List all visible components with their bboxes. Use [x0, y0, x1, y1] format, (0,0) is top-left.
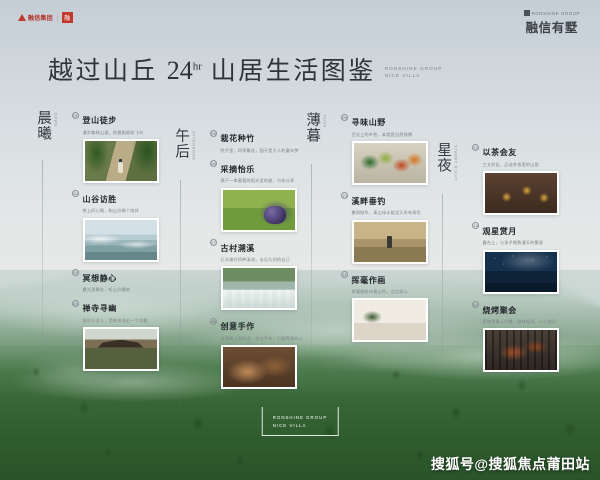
column-afternoon-title: 午后	[172, 128, 190, 159]
item-number-badge: 14	[472, 301, 479, 308]
item-header: 01 登山徒步 漫步森林山道，把晨跑留给飞鸟	[72, 110, 184, 135]
item-description: 挥毫描绘诗意山色，点点家心	[352, 289, 408, 294]
item-thumbnail[interactable]	[83, 327, 159, 371]
item-text: 禅寺寻幽 拾阶与古人，用香茶涤出一个早晨	[83, 298, 148, 323]
triangle-icon	[18, 14, 26, 21]
item-header: 04 禅寺寻幽 拾阶与古人，用香茶涤出一个早晨	[72, 298, 184, 323]
item-number-badge: 08	[210, 318, 217, 325]
item-text: 山谷访胜 带上好心情，和山谷做个陪伴	[83, 189, 139, 214]
column-dawn-rule	[42, 160, 43, 375]
column-night-rule	[442, 194, 443, 390]
list-item[interactable]: 08 创意手作 点亮陶土里的泥，捻出手作，打磨等物的心	[210, 316, 322, 389]
title-part-2: 山居生活图鉴	[211, 58, 376, 85]
item-header: 10 溪畔垂钓 撒网抛竿，青山绿水能浇灭所有烦忧	[341, 191, 453, 216]
item-title: 禅寺寻幽	[83, 304, 117, 313]
item-title: 以茶会友	[483, 148, 517, 157]
brand-logo-right: RONSHINE GROUP 融信有墅	[524, 10, 580, 36]
item-number-badge: 04	[72, 300, 79, 307]
item-description: 舌尖上的乡愁，本就是自然馈赠	[352, 132, 413, 137]
item-thumbnail[interactable]	[83, 218, 159, 262]
thumbnail-image-misty-valley	[85, 220, 157, 260]
item-header: 14 烧烤聚会 庭院里篝火升腾，滋味相识，人心相近	[472, 300, 584, 325]
column-dawn-items: 01 登山徒步 漫步森林山道，把晨跑留给飞鸟 02 山谷访胜	[72, 110, 184, 377]
item-header: 08 创意手作 点亮陶土里的泥，捻出手作，打磨等物的心	[210, 316, 322, 341]
list-item[interactable]: 06 采摘怡乐 摘下一串葡萄的阳光里的甜，与你分享	[210, 159, 322, 232]
item-title: 栽花种竹	[221, 134, 255, 143]
item-number-badge: 02	[72, 190, 79, 197]
item-description: 晨光里静坐，听山谷醒来	[83, 287, 131, 292]
title-subtitle: RONSHINE GROUP NICE VILLA	[385, 65, 443, 80]
item-description: 带上好心情，和山谷做个陪伴	[83, 208, 139, 213]
item-number-badge: 07	[210, 239, 217, 246]
sohu-watermark: 搜狐号@搜狐焦点莆田站	[431, 454, 590, 474]
item-thumbnail[interactable]	[483, 171, 559, 215]
brand-logo-left: 融信集团 融	[18, 12, 73, 23]
thumbnail-image-temple	[85, 329, 157, 369]
brand-logo-left-text: 融信集团	[28, 13, 53, 22]
brand-logo-right-cn: 融信有墅	[524, 17, 580, 36]
thumbnail-image-starry-sky	[485, 252, 557, 292]
column-dusk-en: DUSK	[323, 115, 327, 128]
list-item[interactable]: 11 挥毫作画 挥毫描绘诗意山色，点点家心	[341, 270, 453, 343]
item-number-badge: 01	[72, 112, 79, 119]
item-description: 撒网抛竿，青山绿水能浇灭所有烦忧	[352, 210, 422, 215]
item-header: 02 山谷访胜 带上好心情，和山谷做个陪伴	[72, 189, 184, 214]
column-night-items: 12 以茶会友 三五好友，品谈茶香里的山居 13 观星赏月	[472, 142, 584, 378]
item-number-badge: 05	[210, 130, 217, 137]
logo-divider	[57, 13, 58, 22]
item-number-badge: 09	[341, 114, 348, 121]
thumbnail-image-hiking-trail	[85, 141, 157, 181]
list-item[interactable]: 13 观星赏月 露台上，与孩子细数漫天的繁星	[472, 221, 584, 294]
item-header: 13 观星赏月 露台上，与孩子细数漫天的繁星	[472, 221, 584, 246]
item-header: 03 冥想静心 晨光里静坐，听山谷醒来	[72, 268, 184, 293]
thumbnail-image-vegetables	[354, 143, 426, 183]
item-title: 挥毫作画	[352, 276, 386, 285]
list-item[interactable]: 04 禅寺寻幽 拾阶与古人，用香茶涤出一个早晨	[72, 298, 184, 371]
column-afternoon-items: 05 栽花种竹 院子里，四季繁花，园子是大人的童年梦 06 采摘怡乐 摘下一串葡…	[210, 128, 322, 395]
title-part-1: 越过山丘	[48, 58, 158, 85]
thumbnail-image-painting	[354, 300, 426, 340]
list-item[interactable]: 10 溪畔垂钓 撒网抛竿，青山绿水能浇灭所有烦忧	[341, 191, 453, 264]
item-header: 06 采摘怡乐 摘下一串葡萄的阳光里的甜，与你分享	[210, 159, 322, 184]
item-description: 拾阶与古人，用香茶涤出一个早晨	[83, 318, 148, 323]
footer-logo-line1: RONSHINE GROUP	[273, 414, 328, 421]
item-title: 冥想静心	[83, 274, 117, 283]
item-number-badge: 03	[72, 269, 79, 276]
item-text: 观星赏月 露台上，与孩子细数漫天的繁星	[483, 221, 544, 246]
column-dawn-heading: 晨曦 DAWN	[34, 110, 58, 141]
thumbnail-image-handicraft	[223, 347, 295, 387]
item-thumbnail[interactable]	[483, 250, 559, 294]
thumbnail-image-tea	[485, 173, 557, 213]
item-title: 观星赏月	[483, 227, 517, 236]
column-dusk-title: 薄暮	[303, 112, 321, 143]
item-title: 寻味山野	[352, 118, 386, 127]
column-dawn-title: 晨曦	[34, 110, 52, 141]
thumbnail-image-fishing	[354, 222, 426, 262]
item-title: 登山徒步	[83, 116, 117, 125]
title-unit: hr	[193, 61, 202, 73]
title-number: 24	[167, 56, 193, 85]
item-title: 创意手作	[221, 322, 255, 331]
list-item[interactable]: 12 以茶会友 三五好友，品谈茶香里的山居	[472, 142, 584, 215]
item-title: 采摘怡乐	[221, 165, 255, 174]
item-text: 创意手作 点亮陶土里的泥，捻出手作，打磨等物的心	[221, 316, 304, 341]
column-night-en: STARRY NIGHT	[454, 145, 458, 181]
item-header: 11 挥毫作画 挥毫描绘诗意山色，点点家心	[341, 270, 453, 295]
item-description: 露台上，与孩子细数漫天的繁星	[483, 240, 544, 245]
item-description: 石头滩村桥畔溪流，去见久别的自己	[221, 257, 291, 262]
item-description: 庭院里篝火升腾，滋味相识，人心相近	[483, 319, 557, 324]
item-thumbnail[interactable]	[483, 328, 559, 372]
item-text: 采摘怡乐 摘下一串葡萄的阳光里的甜，与你分享	[221, 159, 295, 184]
thumbnail-image-stream	[223, 268, 295, 308]
brand-badge: 融	[62, 12, 73, 23]
item-text: 以茶会友 三五好友，品谈茶香里的山居	[483, 142, 539, 167]
column-dawn-en: DAWN	[54, 113, 58, 127]
item-number-badge: 11	[341, 271, 348, 278]
item-thumbnail[interactable]	[352, 298, 428, 342]
thumbnail-image-barbecue	[485, 330, 557, 370]
item-text: 溪畔垂钓 撒网抛竿，青山绿水能浇灭所有烦忧	[352, 191, 422, 216]
item-number-badge: 10	[341, 192, 348, 199]
column-afternoon-heading: 午后 AFTERNOON	[172, 128, 196, 161]
page-title: 越过山丘 24hr 山居生活图鉴 RONSHINE GROUP NICE VIL…	[48, 58, 442, 84]
item-header: 09 寻味山野 舌尖上的乡愁，本就是自然馈赠	[341, 112, 453, 137]
ronshine-triangle-icon: 融信集团	[18, 13, 53, 22]
column-dusk-heading: 薄暮 DUSK	[303, 112, 327, 143]
item-text: 古村溯溪 石头滩村桥畔溪流，去见久别的自己	[221, 238, 291, 263]
item-description: 摘下一串葡萄的阳光里的甜，与你分享	[221, 178, 295, 183]
item-title: 烧烤聚会	[483, 306, 517, 315]
item-text: 寻味山野 舌尖上的乡愁，本就是自然馈赠	[352, 112, 413, 137]
list-item[interactable]: 14 烧烤聚会 庭院里篝火升腾，滋味相识，人心相近	[472, 300, 584, 373]
item-description: 院子里，四季繁花，园子是大人的童年梦	[221, 148, 299, 153]
item-description: 漫步森林山道，把晨跑留给飞鸟	[83, 130, 144, 135]
item-text: 冥想静心 晨光里静坐，听山谷醒来	[83, 268, 131, 293]
thumbnail-image-grapes	[223, 190, 295, 230]
item-thumbnail[interactable]	[352, 141, 428, 185]
title-subtitle-line1: RONSHINE GROUP	[385, 65, 443, 73]
poster-canvas: 融信集团 融 RONSHINE GROUP 融信有墅 越过山丘 24hr 山居生…	[0, 0, 600, 480]
footer-logo-line2: NICE VILLA	[273, 422, 328, 429]
item-header: 07 古村溯溪 石头滩村桥畔溪流，去见久别的自己	[210, 238, 322, 263]
item-thumbnail[interactable]	[221, 345, 297, 389]
brand-logo-right-en-row: RONSHINE GROUP	[524, 10, 580, 16]
list-item[interactable]: 07 古村溯溪 石头滩村桥畔溪流，去见久别的自己	[210, 238, 322, 311]
item-text: 登山徒步 漫步森林山道，把晨跑留给飞鸟	[83, 110, 144, 135]
column-afternoon-rule	[180, 180, 181, 408]
list-item[interactable]: 02 山谷访胜 带上好心情，和山谷做个陪伴	[72, 189, 184, 262]
item-title: 溪畔垂钓	[352, 197, 386, 206]
item-description: 点亮陶土里的泥，捻出手作，打磨等物的心	[221, 336, 304, 341]
column-afternoon-en: AFTERNOON	[192, 131, 196, 161]
item-text: 烧烤聚会 庭院里篝火升腾，滋味相识，人心相近	[483, 300, 557, 325]
item-header: 12 以茶会友 三五好友，品谈茶香里的山居	[472, 142, 584, 167]
title-subtitle-line2: NICE VILLA	[385, 72, 443, 80]
column-night-title: 星夜	[434, 142, 452, 173]
item-thumbnail[interactable]	[221, 266, 297, 310]
item-thumbnail[interactable]	[83, 139, 159, 183]
item-title: 山谷访胜	[83, 195, 117, 204]
title-main-text: 越过山丘 24hr 山居生活图鉴	[48, 58, 376, 84]
item-thumbnail[interactable]	[221, 188, 297, 232]
item-title: 古村溯溪	[221, 244, 255, 253]
column-night-heading: 星夜 STARRY NIGHT	[434, 142, 458, 181]
item-number-badge: 13	[472, 222, 479, 229]
column-dusk-rule	[311, 164, 312, 364]
list-item[interactable]: 01 登山徒步 漫步森林山道，把晨跑留给飞鸟	[72, 110, 184, 183]
item-text: 栽花种竹 院子里，四季繁花，园子是大人的童年梦	[221, 128, 299, 153]
item-number-badge: 12	[472, 144, 479, 151]
item-number-badge: 06	[210, 160, 217, 167]
list-item[interactable]: 03 冥想静心 晨光里静坐，听山谷醒来	[72, 268, 184, 293]
square-mark-icon	[524, 10, 530, 16]
item-text: 挥毫作画 挥毫描绘诗意山色，点点家心	[352, 270, 408, 295]
item-description: 三五好友，品谈茶香里的山居	[483, 162, 539, 167]
footer-brand-logo: RONSHINE GROUP NICE VILLA	[262, 407, 339, 436]
item-thumbnail[interactable]	[352, 220, 428, 264]
brand-logo-right-en: RONSHINE GROUP	[532, 11, 580, 16]
